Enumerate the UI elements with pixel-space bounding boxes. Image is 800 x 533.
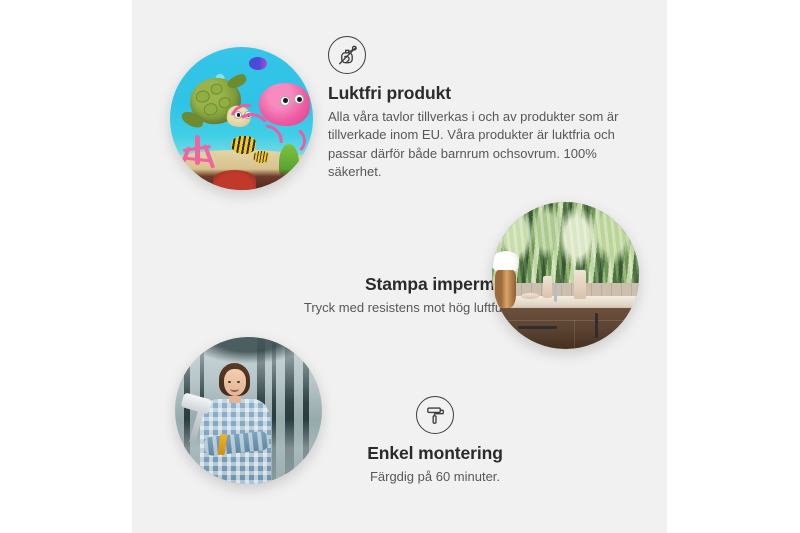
feature-description: Färgdig på 60 minuter. <box>300 468 570 486</box>
bathroom-artwork <box>492 202 639 349</box>
door-handle <box>633 313 636 339</box>
feature-title: Enkel montering <box>300 443 570 464</box>
paint-roller-icon <box>416 396 454 434</box>
feature-odourless: Luktfri produkt Alla våra tavlor tillver… <box>328 36 633 181</box>
screenshot-root: Luktfri produkt Alla våra tavlor tillver… <box>0 0 800 533</box>
feature-easy-installation: Enkel montering Färgdig på 60 minuter. <box>300 396 570 486</box>
eye <box>228 381 230 383</box>
cabinet-seam <box>574 320 575 349</box>
wood-vanity-cabinet <box>498 308 639 349</box>
face <box>224 369 246 395</box>
content-panel: Luktfri produkt Alla våra tavlor tillver… <box>132 0 667 533</box>
striped-fish-small <box>253 151 269 162</box>
sink-faucet <box>554 284 558 302</box>
cabinet-seam <box>498 320 639 321</box>
feature-title: Luktfri produkt <box>328 83 633 104</box>
drawer-handle <box>518 326 556 329</box>
bathroom-botanical-wallpaper-circle-image <box>492 202 639 349</box>
eye <box>237 381 239 383</box>
pillar-candle <box>543 276 552 298</box>
turtle-scute <box>195 90 211 104</box>
purple-fish <box>249 57 268 70</box>
octopus-eye <box>280 96 290 106</box>
no-odour-spray-bottle-icon <box>328 36 366 74</box>
striped-fish <box>231 136 255 155</box>
underwater-cartoon-circle-image <box>170 47 313 190</box>
red-rock <box>213 170 256 190</box>
gold-ribbed-vase <box>495 270 516 308</box>
underwater-artwork <box>170 47 313 190</box>
door-handle <box>595 313 598 339</box>
smile <box>230 386 240 392</box>
soap-dish <box>521 293 539 299</box>
feature-description: Alla våra tavlor tillverkas i och av pro… <box>328 108 633 182</box>
turtle-scute <box>203 102 219 116</box>
turtle-scute <box>209 83 223 96</box>
pillar-candle <box>574 270 586 299</box>
